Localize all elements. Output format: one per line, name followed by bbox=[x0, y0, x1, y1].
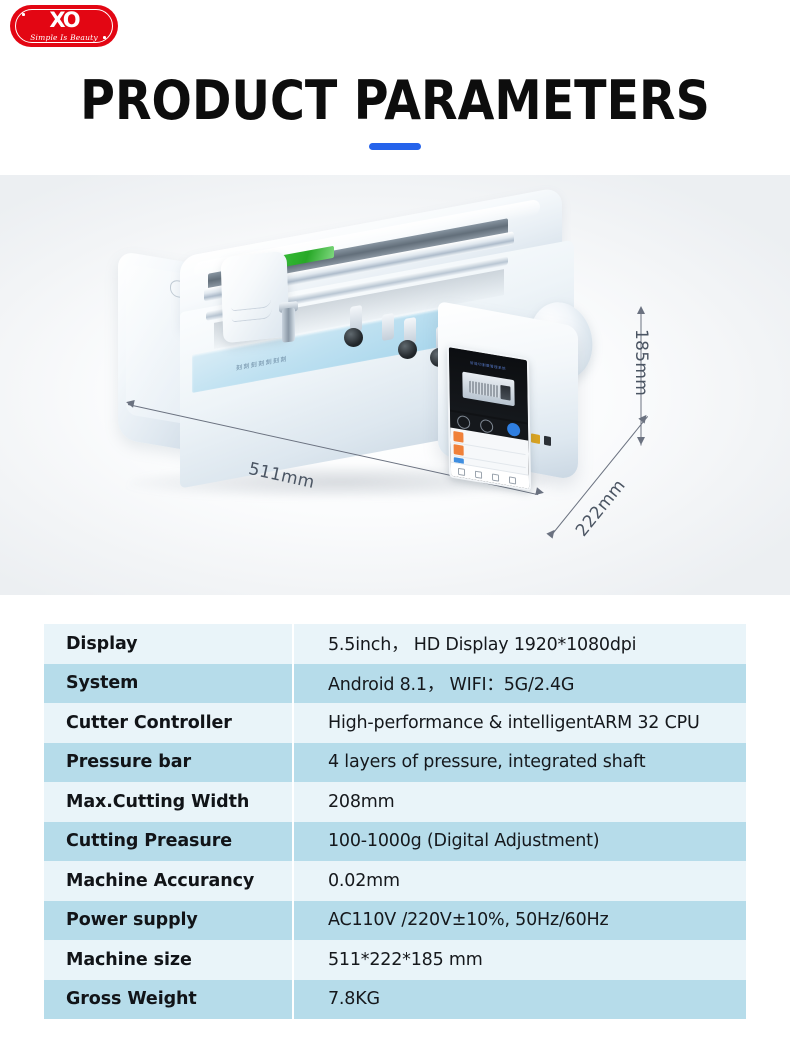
table-row: Max.Cutting Width208mm bbox=[44, 782, 746, 822]
spec-value: 5.5inch， HD Display 1920*1080dpi bbox=[292, 631, 746, 656]
spec-label: Cutter Controller bbox=[44, 713, 292, 733]
column-divider bbox=[292, 703, 294, 743]
machine-blade-holder bbox=[282, 307, 295, 342]
touchscreen-settings-icon[interactable] bbox=[480, 418, 493, 433]
specifications-table: Display5.5inch， HD Display 1920*1080dpiS… bbox=[44, 624, 746, 1019]
table-row: Display5.5inch， HD Display 1920*1080dpi bbox=[44, 624, 746, 664]
touchscreen-device-rollers bbox=[469, 381, 499, 398]
touchscreen-tab-library-icon[interactable] bbox=[475, 471, 482, 479]
table-row: Gross Weight7.8KG bbox=[44, 980, 746, 1020]
spec-value: 7.8KG bbox=[292, 989, 746, 1009]
touchscreen-play-button[interactable] bbox=[507, 422, 520, 437]
cutting-plotter-machine: XO 刻刻刻刻刻刻刻 bbox=[118, 210, 618, 510]
brand-logo: XO Simple Is Beauty bbox=[10, 5, 118, 47]
logo-tagline: Simple Is Beauty bbox=[10, 33, 118, 42]
column-divider bbox=[292, 861, 294, 901]
table-row: Power supplyAC110V /220V±10%, 50Hz/60Hz bbox=[44, 901, 746, 941]
touchscreen-tab-home-icon[interactable] bbox=[458, 468, 465, 476]
touchscreen-tab-profile-icon[interactable] bbox=[509, 476, 516, 484]
column-divider bbox=[292, 743, 294, 783]
touchscreen-list-thumb bbox=[454, 444, 464, 456]
spec-value: 0.02mm bbox=[292, 871, 746, 891]
spec-label: Max.Cutting Width bbox=[44, 792, 292, 812]
dimension-arrow-height-top bbox=[637, 306, 645, 314]
table-row: Pressure bar4 layers of pressure, integr… bbox=[44, 743, 746, 783]
power-port bbox=[544, 436, 551, 446]
spec-value: High-performance & intelligentARM 32 CPU bbox=[292, 713, 746, 733]
column-divider bbox=[292, 822, 294, 862]
dimension-arrow-width-start bbox=[125, 398, 135, 408]
logo-wordmark: XO bbox=[10, 10, 118, 31]
title-accent-bar bbox=[369, 143, 421, 150]
dimension-arrow-height-bottom bbox=[637, 437, 645, 445]
machine-head-contour-2 bbox=[232, 309, 272, 322]
machine-pressure-roller-1 bbox=[344, 328, 363, 347]
touchscreen-device-panel bbox=[500, 385, 510, 401]
machine-pressure-roller-2 bbox=[398, 340, 417, 359]
spec-label: Machine Accurancy bbox=[44, 871, 292, 891]
touchscreen-power-icon[interactable] bbox=[457, 415, 470, 430]
usb-b-port bbox=[531, 433, 540, 444]
table-row: Machine size511*222*185 mm bbox=[44, 940, 746, 980]
spec-value: 208mm bbox=[292, 792, 746, 812]
machine-cutting-head bbox=[221, 251, 290, 344]
spec-label: Cutting Preasure bbox=[44, 831, 292, 851]
spec-label: Gross Weight bbox=[44, 989, 292, 1009]
touchscreen-device-illustration bbox=[462, 372, 514, 407]
spec-value: 100-1000g (Digital Adjustment) bbox=[292, 831, 746, 851]
spec-label: Display bbox=[44, 634, 292, 654]
touchscreen-preview-panel: 智能切割膜管理系统 bbox=[449, 347, 528, 422]
column-divider bbox=[292, 664, 294, 704]
column-divider bbox=[292, 980, 294, 1020]
spec-label: Machine size bbox=[44, 950, 292, 970]
machine-touchscreen[interactable]: 智能切割膜管理系统 bbox=[447, 345, 531, 491]
spec-label: Power supply bbox=[44, 910, 292, 930]
dimension-label-height: 185mm bbox=[631, 329, 651, 396]
machine-roller-arm-2 bbox=[382, 313, 394, 341]
spec-label: System bbox=[44, 673, 292, 693]
spec-value: AC110V /220V±10%, 50Hz/60Hz bbox=[292, 910, 746, 930]
dimension-arrow-width-end bbox=[535, 487, 545, 497]
spec-value: Android 8.1， WIFI：5G/2.4G bbox=[292, 671, 746, 696]
touchscreen-list-thumb bbox=[453, 431, 463, 443]
product-hero-image: XO 刻刻刻刻刻刻刻 bbox=[0, 175, 790, 595]
column-divider bbox=[292, 901, 294, 941]
touchscreen-tab-search-icon[interactable] bbox=[492, 474, 499, 482]
table-row: Cutter ControllerHigh-performance & inte… bbox=[44, 703, 746, 743]
column-divider bbox=[292, 782, 294, 822]
table-row: SystemAndroid 8.1， WIFI：5G/2.4G bbox=[44, 664, 746, 704]
table-row: Cutting Preasure100-1000g (Digital Adjus… bbox=[44, 822, 746, 862]
table-row: Machine Accurancy0.02mm bbox=[44, 861, 746, 901]
column-divider bbox=[292, 940, 294, 980]
spec-label: Pressure bar bbox=[44, 752, 292, 772]
spec-value: 4 layers of pressure, integrated shaft bbox=[292, 752, 746, 772]
touchscreen-title: 智能切割膜管理系统 bbox=[449, 356, 527, 374]
column-divider bbox=[292, 624, 294, 664]
spec-value: 511*222*185 mm bbox=[292, 950, 746, 970]
page-title: PRODUCT PARAMETERS bbox=[47, 70, 742, 132]
